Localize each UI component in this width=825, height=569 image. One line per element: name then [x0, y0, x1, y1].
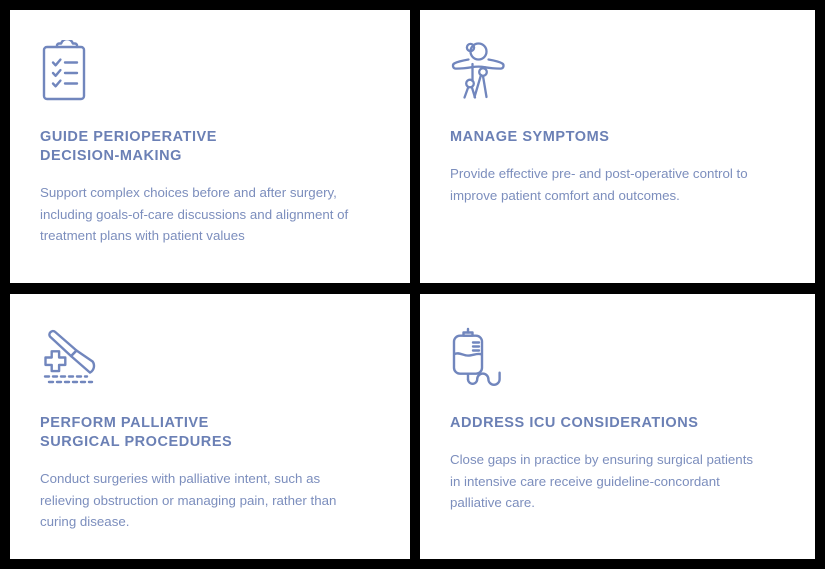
card-heading: GUIDE PERIOPERATIVE DECISION-MAKING [40, 128, 380, 166]
card-heading: PERFORM PALLIATIVE SURGICAL PROCEDURES [40, 414, 380, 452]
card-body: Close gaps in practice by ensuring surgi… [450, 449, 785, 514]
clipboard-checklist-icon [40, 40, 380, 118]
card-heading: MANAGE SYMPTOMS [450, 128, 785, 147]
card-address-icu-considerations[interactable]: ADDRESS ICU CONSIDERATIONS Close gaps in… [420, 294, 815, 559]
human-body-symptoms-icon [450, 40, 785, 118]
card-grid: GUIDE PERIOPERATIVE DECISION-MAKING Supp… [10, 10, 815, 559]
card-body: Provide effective pre- and post-operativ… [450, 163, 785, 206]
scalpel-incision-icon [40, 326, 380, 404]
card-manage-symptoms[interactable]: MANAGE SYMPTOMS Provide effective pre- a… [420, 10, 815, 283]
card-heading: ADDRESS ICU CONSIDERATIONS [450, 414, 785, 433]
iv-drip-bag-icon [450, 326, 785, 404]
card-perform-palliative-surgical-procedures[interactable]: PERFORM PALLIATIVE SURGICAL PROCEDURES C… [10, 294, 410, 559]
card-body: Conduct surgeries with palliative intent… [40, 468, 380, 533]
card-guide-perioperative-decision-making[interactable]: GUIDE PERIOPERATIVE DECISION-MAKING Supp… [10, 10, 410, 283]
card-body: Support complex choices before and after… [40, 182, 380, 247]
